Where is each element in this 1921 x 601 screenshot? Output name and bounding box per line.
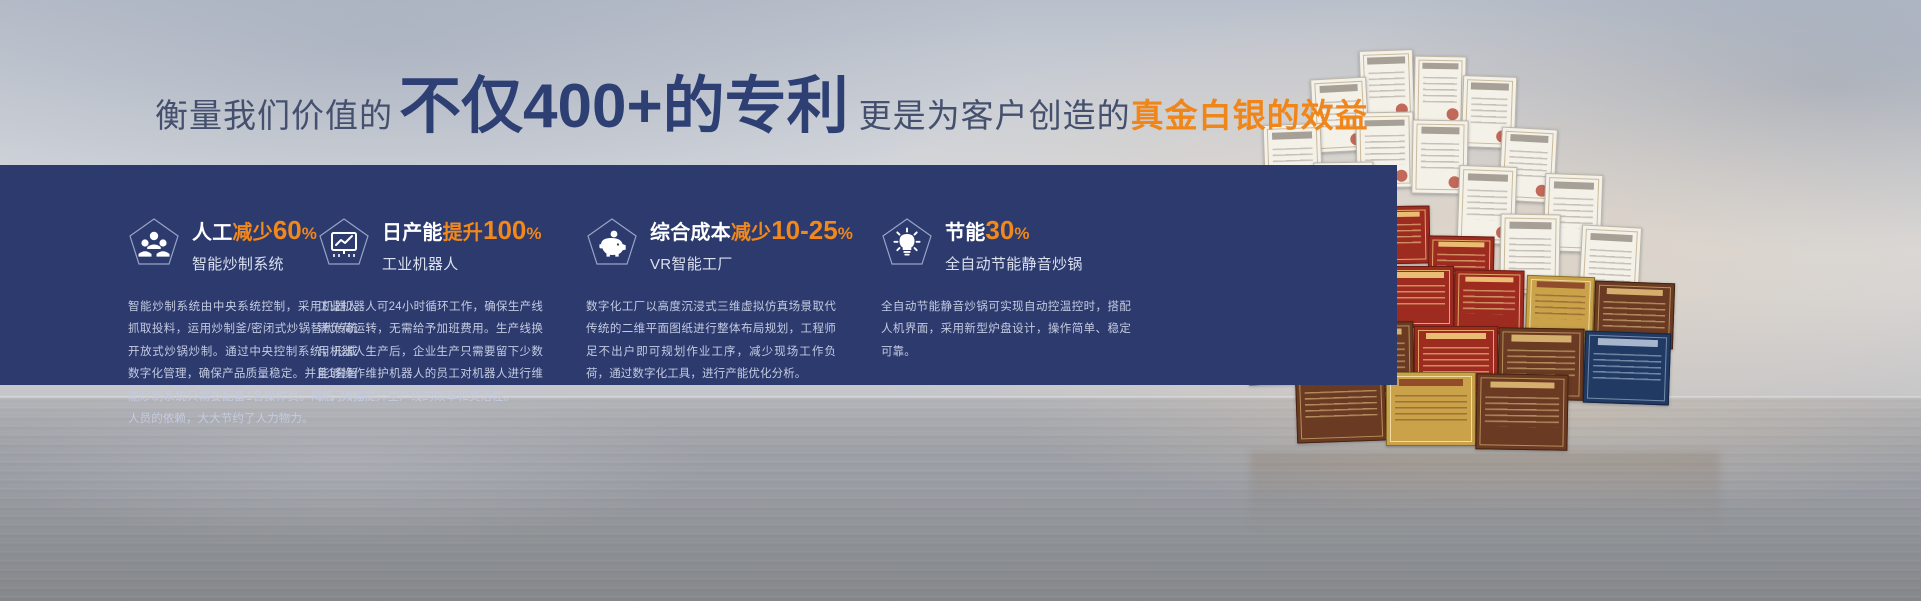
piggy-bank-icon — [586, 217, 638, 267]
feature-subtitle: 工业机器人 — [382, 253, 542, 274]
feature-item-cost: 综合成本减少10-25% VR智能工厂 数字化工厂以高度沉浸式三维虚拟仿真场景取… — [558, 165, 853, 395]
certificate-reflection — [1250, 452, 1720, 532]
certificate-item — [1386, 372, 1476, 446]
feature-body: 工业机器人可24小时循环工作，确保生产线满负荷运转，无需给予加班费用。生产线换用… — [318, 296, 543, 408]
headline-lead: 衡量我们价值的 — [155, 89, 393, 137]
lightbulb-icon — [881, 217, 933, 267]
feature-item-labor: 人工减少60% 智能炒制系统 智能炒制系统由中央系统控制，采用机器人抓取投料，运… — [0, 165, 290, 395]
feature-item-output: 日产能提升100% 工业机器人 工业机器人可24小时循环工作，确保生产线满负荷运… — [290, 165, 558, 395]
feature-list: 人工减少60% 智能炒制系统 智能炒制系统由中央系统控制，采用机器人抓取投料，运… — [0, 165, 1397, 395]
feature-title: 综合成本减少10-25% — [650, 216, 853, 246]
certificate-item — [1453, 269, 1524, 334]
feature-item-energy: 节能30% 全自动节能静音炒锅 全自动节能静音炒锅可实现自动控温控时，搭配人机界… — [853, 165, 1153, 395]
page-title: 衡量我们价值的 不仅400+的专利 更是为客户创造的 真金白银的效益 — [155, 76, 1369, 140]
headline-mid: 更是为客户创造的 — [859, 89, 1131, 137]
certificate-item — [1583, 331, 1671, 406]
certificate-item — [1413, 56, 1466, 127]
certificate-item — [1475, 373, 1568, 451]
feature-subtitle: VR智能工厂 — [650, 253, 853, 274]
feature-body: 全自动节能静音炒锅可实现自动控温控时，搭配人机界面，采用新型炉盘设计，操作简单、… — [881, 296, 1131, 363]
headline-accent: 真金白银的效益 — [1131, 89, 1369, 137]
feature-body: 数字化工厂以高度沉浸式三维虚拟仿真场景取代传统的二维平面图纸进行整体布局规划，工… — [586, 296, 836, 386]
feature-title: 节能30% — [945, 216, 1083, 246]
chart-board-icon — [318, 217, 370, 267]
people-group-icon — [128, 217, 180, 267]
feature-title: 日产能提升100% — [382, 216, 542, 246]
banner-stage: 衡量我们价值的 不仅400+的专利 更是为客户创造的 真金白银的效益 — [0, 0, 1921, 601]
headline-strong: 不仅400+的专利 — [399, 76, 849, 138]
feature-subtitle: 全自动节能静音炒锅 — [945, 253, 1083, 274]
